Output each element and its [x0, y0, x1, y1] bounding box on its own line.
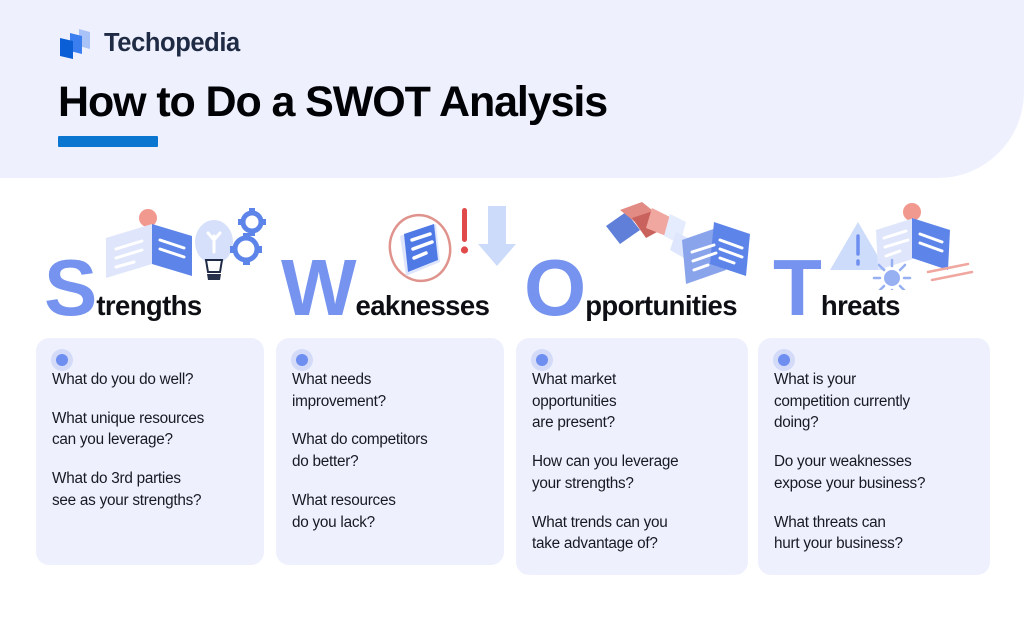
big-letter-s: S	[44, 255, 95, 321]
question-list: What needs improvement? What do competit…	[292, 369, 488, 533]
question-card-weaknesses: What needs improvement? What do competit…	[276, 338, 504, 565]
question-card-opportunities: What market opportunities are present? H…	[516, 338, 748, 575]
page-title: How to Do a SWOT Analysis	[58, 79, 607, 126]
infographic-page: Techopedia How to Do a SWOT Analysis	[0, 0, 1024, 618]
question-item: What unique resources can you leverage?	[52, 408, 248, 451]
word-rest-threats: hreats	[821, 292, 900, 320]
word-strengths: S trengths	[44, 255, 202, 321]
swot-column-weaknesses: W eaknesses What needs improvement? What…	[276, 196, 516, 576]
bullet-core	[296, 354, 308, 366]
question-item: What do competitors do better?	[292, 429, 488, 472]
column-heading-opportunities: O pportunities	[516, 196, 756, 321]
bullet-core	[778, 354, 790, 366]
question-card-strengths: What do you do well? What unique resourc…	[36, 338, 264, 565]
header-banner: Techopedia How to Do a SWOT Analysis	[0, 0, 1024, 178]
brand-logo[interactable]: Techopedia	[57, 27, 240, 61]
card-bullet-dot	[291, 349, 313, 371]
question-list: What do you do well? What unique resourc…	[52, 369, 248, 512]
big-letter-o: O	[524, 255, 584, 321]
question-list: What market opportunities are present? H…	[532, 369, 732, 555]
bullet-core	[536, 354, 548, 366]
question-item: What do you do well?	[52, 369, 248, 391]
word-rest-weaknesses: eaknesses	[356, 292, 490, 320]
question-item: What resources do you lack?	[292, 490, 488, 533]
big-letter-t: T	[773, 255, 820, 321]
swot-column-strengths: S trengths What do you do well? What uni…	[36, 196, 276, 576]
question-list: What is your competition currently doing…	[774, 369, 974, 555]
swot-columns: S trengths What do you do well? What uni…	[0, 196, 1024, 576]
brand-name: Techopedia	[104, 31, 240, 57]
big-letter-w: W	[281, 255, 355, 321]
card-bullet-dot	[531, 349, 553, 371]
swot-column-threats: T hreats What is your competition curren…	[758, 196, 998, 576]
word-weaknesses: W eaknesses	[281, 255, 489, 321]
bullet-core	[56, 354, 68, 366]
question-item: What market opportunities are present?	[532, 369, 732, 434]
word-opportunities: O pportunities	[524, 255, 737, 321]
techopedia-stacked-cards-logo-icon	[57, 27, 93, 61]
question-item: What threats can hurt your business?	[774, 512, 974, 555]
swot-column-opportunities: O pportunities What market opportunities…	[516, 196, 756, 576]
column-heading-threats: T hreats	[758, 196, 998, 321]
card-bullet-dot	[51, 349, 73, 371]
column-heading-strengths: S trengths	[36, 196, 276, 321]
word-threats: T hreats	[773, 255, 900, 321]
card-bullet-dot	[773, 349, 795, 371]
question-card-threats: What is your competition currently doing…	[758, 338, 990, 575]
question-item: Do your weaknesses expose your business?	[774, 451, 974, 494]
question-item: What do 3rd parties see as your strength…	[52, 468, 248, 511]
word-rest-strengths: trengths	[96, 292, 201, 320]
word-rest-opportunities: pportunities	[585, 292, 737, 320]
question-item: How can you leverage your strengths?	[532, 451, 732, 494]
column-heading-weaknesses: W eaknesses	[276, 196, 516, 321]
question-item: What is your competition currently doing…	[774, 369, 974, 434]
question-item: What needs improvement?	[292, 369, 488, 412]
title-accent-rule	[58, 136, 158, 147]
question-item: What trends can you take advantage of?	[532, 512, 732, 555]
